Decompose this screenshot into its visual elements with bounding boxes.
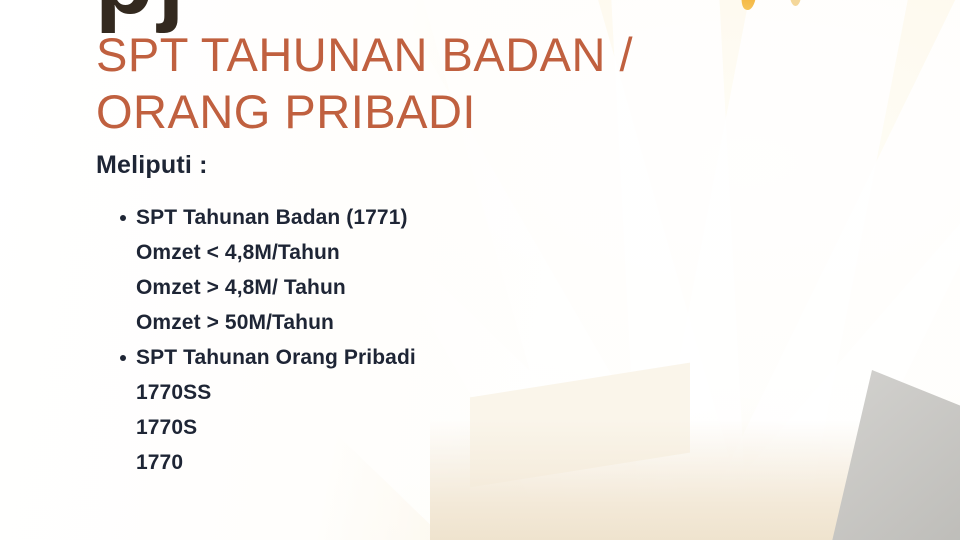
list-group: SPT Tahunan Orang Pribadi 1770SS 1770S 1… xyxy=(96,343,566,483)
list-item: 1770 xyxy=(96,448,566,483)
list-item: SPT Tahunan Badan (1771) xyxy=(96,203,566,238)
content-list: SPT Tahunan Badan (1771) Omzet < 4,8M/Ta… xyxy=(96,203,566,483)
intro-label: Meliputi : xyxy=(96,151,208,180)
list-item: Omzet > 50M/Tahun xyxy=(96,308,566,343)
list-item: SPT Tahunan Orang Pribadi xyxy=(96,343,566,378)
slide-canvas: pj xyxy=(0,0,960,540)
list-item: 1770S xyxy=(96,413,566,448)
list-group: SPT Tahunan Badan (1771) Omzet < 4,8M/Ta… xyxy=(96,203,566,343)
list-item: 1770SS xyxy=(96,378,566,413)
foreground-shape xyxy=(830,370,960,540)
list-item: Omzet < 4,8M/Tahun xyxy=(96,238,566,273)
page-title: SPT TAHUNAN BADAN / ORANG PRIBADI xyxy=(96,26,696,140)
list-item: Omzet > 4,8M/ Tahun xyxy=(96,273,566,308)
